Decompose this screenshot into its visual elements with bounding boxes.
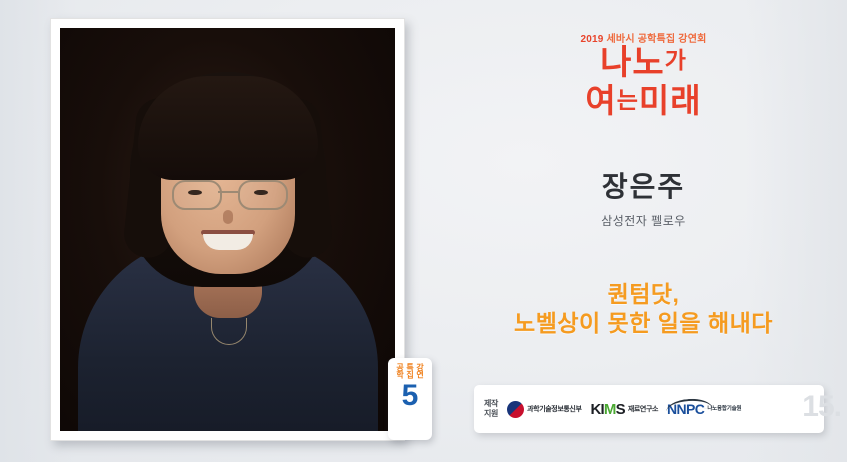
talk-title-line-2: 노벨상이 못한 일을 해내다: [440, 309, 847, 338]
series-badge-number: 5: [402, 381, 419, 411]
series-badge-text: 강연 특집 공학: [396, 363, 425, 378]
sponsor-label-line-2: 지원: [484, 409, 498, 419]
sponsor-label: 제작 지원: [484, 399, 498, 419]
talk-title-line-1: 퀀텀닷,: [440, 280, 847, 309]
glasses-lens-right: [238, 180, 288, 210]
portrait-hair-top: [138, 76, 318, 180]
event-kicker: 2019세바시 공학특집 강연회: [440, 30, 847, 45]
slide-canvas: 강연 특집 공학 5 2019세바시 공학특집 강연회 나노가 여는미래 장은주…: [0, 0, 847, 462]
series-badge: 강연 특집 공학 5: [388, 358, 432, 440]
sponsor-ministry-name: 과학기술정보통신부: [527, 404, 581, 414]
kims-logo: KIMS: [591, 402, 625, 417]
program-brandmark: 나노가 여는미래: [440, 46, 847, 118]
brandmark-particle-neun: 는: [617, 87, 639, 113]
sponsor-kims-name: 재료연구소: [628, 404, 658, 414]
talk-title: 퀀텀닷, 노벨상이 못한 일을 해내다: [440, 280, 847, 339]
sponsor-kims: KIMS 재료연구소: [591, 402, 659, 417]
sponsor-nnpc-name: 나노융합기술원: [707, 406, 741, 412]
sponsor-ministry: 과학기술정보통신부: [507, 401, 581, 418]
sponsor-bar: 제작 지원 과학기술정보통신부 KIMS 재료연구소 NNPC 나노융합기술원: [474, 385, 824, 433]
series-badge-col-3: 공학: [396, 363, 405, 378]
right-column: 2019세바시 공학특집 강연회 나노가 여는미래 장은주 삼성전자 펠로우 퀀…: [440, 0, 847, 462]
speaker-name: 장은주: [440, 165, 847, 205]
brandmark-yeo: 여: [585, 82, 616, 119]
series-badge-col-1: 강연: [416, 363, 425, 378]
nnpc-logo: NNPC: [667, 402, 704, 416]
glasses-bridge: [218, 191, 238, 193]
series-badge-col-2: 특집: [406, 363, 415, 378]
sponsor-nnpc: NNPC 나노융합기술원: [667, 402, 741, 416]
nnpc-swoosh-icon: [666, 397, 713, 411]
watermark: 15.: [802, 392, 841, 422]
brandmark-particle-ga: 가: [665, 47, 687, 73]
speaker-photo-frame: [50, 18, 405, 441]
brandmark-nano: 나노: [600, 44, 665, 82]
brandmark-line-2: 여는미래: [440, 84, 847, 119]
brandmark-mirae: 미래: [639, 82, 702, 119]
brandmark-line-1: 나노가: [440, 46, 847, 82]
sponsor-label-line-1: 제작: [484, 399, 498, 409]
portrait-nose: [223, 210, 233, 224]
portrait-smile: [203, 234, 253, 250]
speaker-affiliation: 삼성전자 펠로우: [440, 212, 847, 229]
speaker-photo: [60, 28, 395, 431]
taeguk-icon: [507, 401, 524, 418]
glasses-lens-left: [172, 180, 222, 210]
